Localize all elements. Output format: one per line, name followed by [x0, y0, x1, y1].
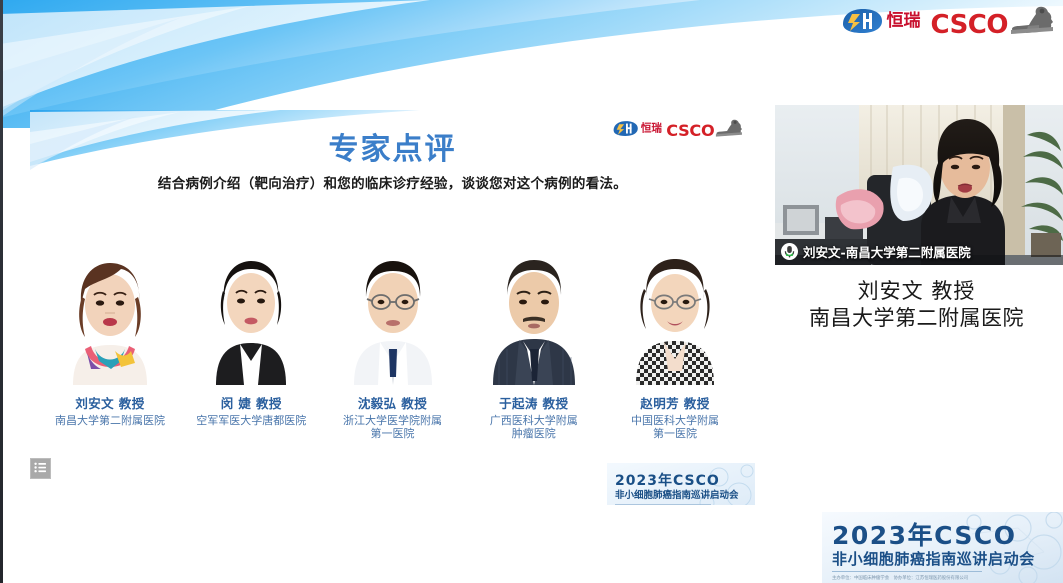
expert-name: 沈毅弘 教授: [358, 393, 427, 412]
hengrui-logo: 恒瑞: [839, 6, 921, 36]
participant-label: 刘安文-南昌大学第二附属医院: [781, 242, 971, 261]
expert-card: 赵明芳 教授 中国医科大学附属第一医院: [609, 245, 741, 441]
svg-text:非小细胞肺癌指南巡讲启动会: 非小细胞肺癌指南巡讲启动会: [615, 489, 739, 501]
microphone-icon: [781, 243, 798, 260]
expert-portrait: [334, 245, 452, 385]
slide-event-banner: 2023年CSCO 非小细胞肺癌指南巡讲启动会 主办单位：中国临床肿瘤学会 协办…: [607, 463, 755, 505]
speaker-info: 刘安文 教授 南昌大学第二附属医院: [770, 278, 1063, 333]
expert-card: 闵 婕 教授 空军军医大学唐都医院: [185, 245, 317, 427]
csco-lion-icon: [1009, 4, 1055, 38]
left-edge-rail: [0, 0, 3, 583]
svg-text:主办单位：中国临床肿瘤学会 协办单位：江苏恒瑞医药股份有限公: 主办单位：中国临床肿瘤学会 协办单位：江苏恒瑞医药股份有限公司: [832, 574, 968, 581]
speaker-name: 刘安文 教授: [770, 278, 1063, 305]
expert-card: 沈毅弘 教授 浙江大学医学院附属第一医院: [327, 245, 459, 441]
expert-name: 闵 婕 教授: [221, 393, 282, 412]
screen-share-stage: 恒瑞 CSCO: [0, 0, 1063, 583]
shared-slide: 恒瑞 CSCO 专家点评 结合病例介绍（靶向治疗）和您的临床诊疗经验，谈谈您对这…: [30, 110, 755, 505]
speaker-organization: 南昌大学第二附属医院: [770, 305, 1063, 332]
expert-org: 中国医科大学附属第一医院: [631, 414, 719, 441]
list-button[interactable]: [30, 458, 51, 479]
expert-org: 空军军医大学唐都医院: [196, 414, 306, 427]
expert-portrait: [616, 245, 734, 385]
csco-logo: CSCO: [931, 4, 1055, 38]
expert-name: 刘安文 教授: [75, 393, 144, 412]
expert-card: 于起涛 教授 广西医科大学附属肿瘤医院: [468, 245, 600, 441]
event-banner: 2023年CSCO 非小细胞肺癌指南巡讲启动会 主办单位：中国临床肿瘤学会 协办…: [822, 512, 1063, 583]
expert-card: 刘安文 教授 南昌大学第二附属医院: [44, 245, 176, 427]
svg-text:2023年CSCO: 2023年CSCO: [832, 521, 1017, 550]
expert-portrait: [475, 245, 593, 385]
hengrui-logo-text: 恒瑞: [887, 13, 921, 30]
expert-org: 南昌大学第二附属医院: [55, 414, 165, 427]
expert-panel-row: 刘安文 教授 南昌大学第二附属医院: [44, 245, 741, 441]
participant-video-tile[interactable]: 刘安文-南昌大学第二附属医院: [775, 105, 1063, 265]
slide-subtitle: 结合病例介绍（靶向治疗）和您的临床诊疗经验，谈谈您对这个病例的看法。: [70, 172, 715, 192]
svg-text:非小细胞肺癌指南巡讲启动会: 非小细胞肺癌指南巡讲启动会: [832, 550, 1035, 568]
expert-portrait: [51, 245, 169, 385]
expert-portrait: [192, 245, 310, 385]
csco-logo-text: CSCO: [931, 13, 1008, 38]
expert-name: 赵明芳 教授: [640, 393, 709, 412]
slide-title: 专家点评: [30, 124, 755, 168]
brand-logo-group: 恒瑞 CSCO: [839, 4, 1055, 38]
expert-org: 浙江大学医学院附属第一医院: [343, 414, 442, 441]
svg-text:2023年CSCO: 2023年CSCO: [615, 472, 720, 489]
expert-name: 于起涛 教授: [499, 393, 568, 412]
list-icon: [34, 460, 47, 478]
video-frame: [775, 105, 1063, 265]
participant-label-text: 刘安文-南昌大学第二附属医院: [803, 242, 971, 261]
expert-org: 广西医科大学附属肿瘤医院: [490, 414, 578, 441]
hengrui-mark-icon: [839, 6, 885, 36]
